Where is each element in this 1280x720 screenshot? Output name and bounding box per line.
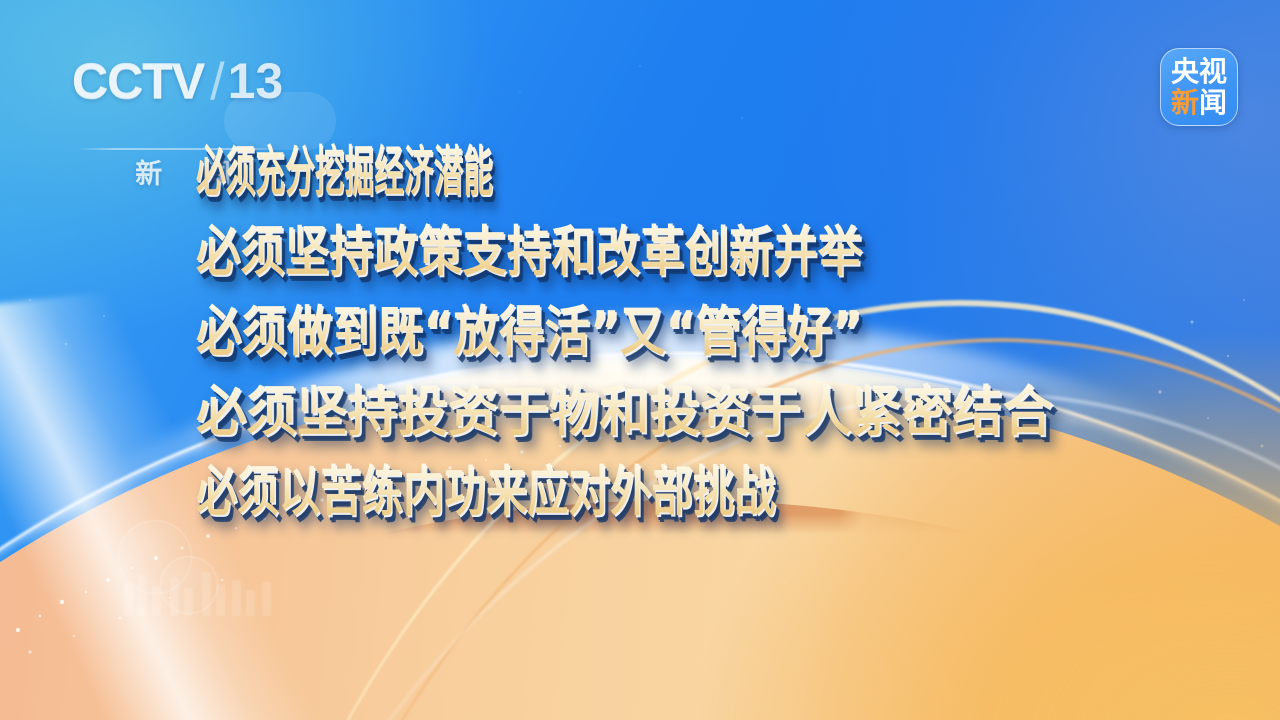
headline-line-3: 必须做到既“放得活”又“管得好”: [196, 292, 862, 372]
cctv-slash-divider: /: [210, 56, 224, 108]
faint-watermark: [118, 552, 294, 640]
cctv-news-app-logo: 央视 新 闻: [1160, 48, 1238, 126]
cctv-wordmark: CCTV: [72, 56, 204, 106]
news-logo-line-2: 新 闻: [1171, 88, 1227, 117]
headline-line-2: 必须坚持政策支持和改革创新并举: [196, 212, 862, 292]
headline-line-4: 必须坚持投资于物和投资于人紧密结合: [196, 372, 1053, 452]
headline-text-block: 必须充分挖掘经济潜能 必须坚持政策支持和改革创新并举 必须做到既“放得活”又“管…: [196, 132, 1196, 532]
broadcast-screen: CCTV / 13 新 闻 央视 新 闻 必须充分挖掘经济潜能 必须坚持政策支持…: [0, 0, 1280, 720]
news-logo-wen-text: 闻: [1199, 88, 1227, 117]
news-logo-yangshi-text: 央视: [1171, 57, 1227, 86]
news-logo-line-1: 央视: [1171, 57, 1227, 86]
headline-line-1: 必须充分挖掘经济潜能: [196, 132, 493, 212]
headline-line-5: 必须以苦练内功来应对外部挑战: [196, 452, 776, 532]
news-logo-xin-accent-text: 新: [1171, 88, 1199, 117]
cctv-13-channel-bug: CCTV / 13 新 闻: [72, 48, 294, 142]
